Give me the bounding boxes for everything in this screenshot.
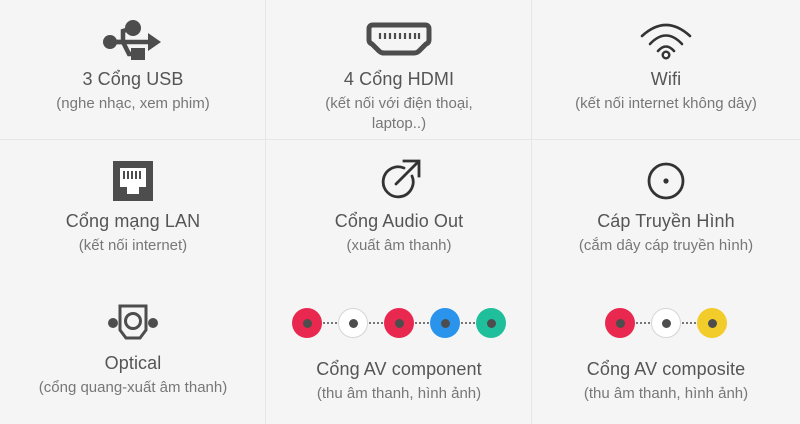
lan-port-icon: [112, 152, 154, 210]
feature-title: 4 Cổng HDMI: [304, 68, 494, 92]
av-component-connectors-icon: [292, 294, 506, 352]
cable-dots: [681, 322, 697, 324]
feature-title: 3 Cổng USB: [56, 68, 209, 92]
white-plug: [651, 308, 681, 338]
feature-title: Cổng AV component: [316, 358, 481, 382]
cable-dots: [414, 322, 430, 324]
red-plug: [384, 308, 414, 338]
feature-cell-lan: Cổng mạng LAN (kết nối internet): [0, 140, 266, 280]
blue-plug: [430, 308, 460, 338]
wifi-icon: [636, 10, 696, 68]
white-plug: [338, 308, 368, 338]
feature-labels: 4 Cổng HDMI (kết nối với điện thoại, lap…: [296, 68, 502, 133]
cable-dots: [322, 322, 338, 324]
feature-cell-av-component: Cổng AV component (thu âm thanh, hình ản…: [266, 280, 532, 424]
coaxial-cable-icon: [643, 152, 689, 210]
feature-labels: 3 Cổng USB (nghe nhạc, xem phim): [48, 68, 217, 114]
green-plug: [476, 308, 506, 338]
feature-subtitle: (thu âm thanh, hình ảnh): [316, 384, 481, 404]
cable-dots: [635, 322, 651, 324]
feature-cell-coaxial: Cáp Truyền Hình (cắm dây cáp truyền hình…: [532, 140, 800, 280]
feature-title: Optical: [39, 352, 227, 376]
feature-cell-usb: 3 Cổng USB (nghe nhạc, xem phim): [0, 0, 266, 140]
feature-subtitle: (thu âm thanh, hình ảnh): [584, 384, 748, 404]
feature-labels: Cổng AV composite (thu âm thanh, hình ản…: [576, 358, 756, 404]
feature-title: Cổng mạng LAN: [66, 210, 200, 234]
feature-cell-audio-out: Cổng Audio Out (xuất âm thanh): [266, 140, 532, 280]
feature-cell-hdmi: 4 Cổng HDMI (kết nối với điện thoại, lap…: [266, 0, 532, 140]
feature-labels: Cổng mạng LAN (kết nối internet): [58, 210, 208, 256]
feature-labels: Wifi (kết nối internet không dây): [567, 68, 765, 114]
feature-labels: Cáp Truyền Hình (cắm dây cáp truyền hình…: [571, 210, 761, 256]
feature-subtitle: (kết nối internet): [66, 236, 200, 256]
feature-title: Cổng AV composite: [584, 358, 748, 382]
feature-labels: Cổng AV component (thu âm thanh, hình ản…: [308, 358, 489, 404]
av-composite-connectors-icon: [605, 294, 727, 352]
cable-dots: [460, 322, 476, 324]
cable-dots: [368, 322, 384, 324]
feature-labels: Optical (cổng quang-xuất âm thanh): [31, 352, 235, 398]
feature-cell-optical: Optical (cổng quang-xuất âm thanh): [0, 280, 266, 424]
feature-cell-wifi: Wifi (kết nối internet không dây): [532, 0, 800, 140]
audio-out-arrow-icon: [374, 152, 424, 210]
feature-subtitle: (kết nối internet không dây): [575, 94, 757, 114]
feature-labels: Cổng Audio Out (xuất âm thanh): [327, 210, 472, 256]
feature-title: Cổng Audio Out: [335, 210, 464, 234]
feature-subtitle: (kết nối với điện thoại, laptop..): [304, 94, 494, 134]
yellow-plug: [697, 308, 727, 338]
feature-subtitle: (cắm dây cáp truyền hình): [579, 236, 753, 256]
feature-title: Wifi: [575, 68, 757, 92]
tv-ports-feature-grid: 3 Cổng USB (nghe nhạc, xem phim): [0, 0, 800, 424]
feature-subtitle: (cổng quang-xuất âm thanh): [39, 378, 227, 398]
feature-subtitle: (xuất âm thanh): [335, 236, 464, 256]
optical-port-icon: [107, 294, 159, 352]
feature-cell-av-composite: Cổng AV composite (thu âm thanh, hình ản…: [532, 280, 800, 424]
red-plug: [292, 308, 322, 338]
red-plug: [605, 308, 635, 338]
hdmi-port-icon: [362, 10, 436, 68]
feature-title: Cáp Truyền Hình: [579, 210, 753, 234]
feature-subtitle: (nghe nhạc, xem phim): [56, 94, 209, 114]
usb-icon: [101, 10, 165, 68]
